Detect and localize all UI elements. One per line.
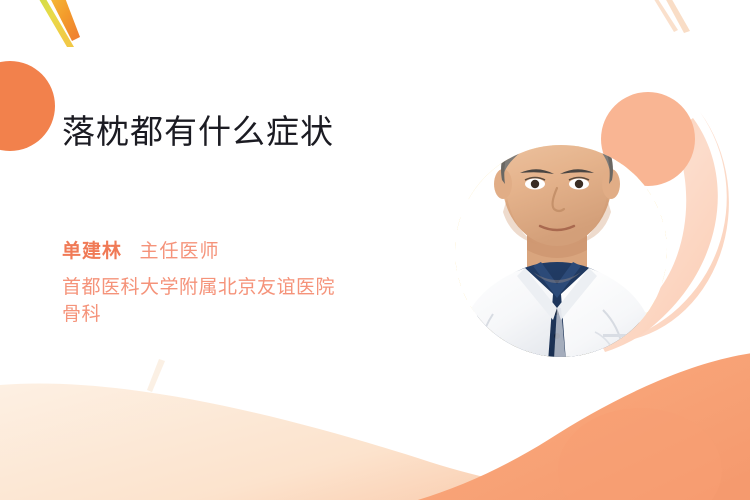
accent-line-top-left — [36, 0, 74, 47]
page-title: 落枕都有什么症状 — [62, 110, 462, 154]
accent-line-top-right-a — [652, 0, 678, 32]
accent-line-top-right-b — [664, 0, 690, 33]
doctor-name: 单建林 — [62, 241, 122, 262]
doctor-affiliation-line1: 首都医科大学附属北京友谊医院 — [62, 274, 392, 301]
doctor-title: 主任医师 — [139, 241, 219, 262]
wave-light — [0, 384, 750, 500]
text-block: 落枕都有什么症状 单建林 主任医师 首都医科大学附属北京友谊医院 骨科 — [62, 110, 462, 328]
doctor-identity-line: 单建林 主任医师 — [62, 239, 462, 266]
doctor-portrait — [455, 145, 667, 357]
promo-card: 落枕都有什么症状 单建林 主任医师 首都医科大学附属北京友谊医院 骨科 — [0, 0, 750, 500]
portrait-photo — [455, 145, 667, 357]
doctor-affiliation: 首都医科大学附属北京友谊医院 骨科 — [62, 274, 392, 328]
accent-line-bottom-left — [147, 359, 165, 392]
accent-wedge-top-left — [46, 0, 80, 41]
doctor-affiliation-line2: 骨科 — [62, 301, 392, 328]
accent-circle-left — [0, 61, 55, 151]
portrait-circle-mask — [455, 145, 667, 357]
wave-bump — [558, 408, 722, 500]
wave-strong — [400, 352, 750, 500]
